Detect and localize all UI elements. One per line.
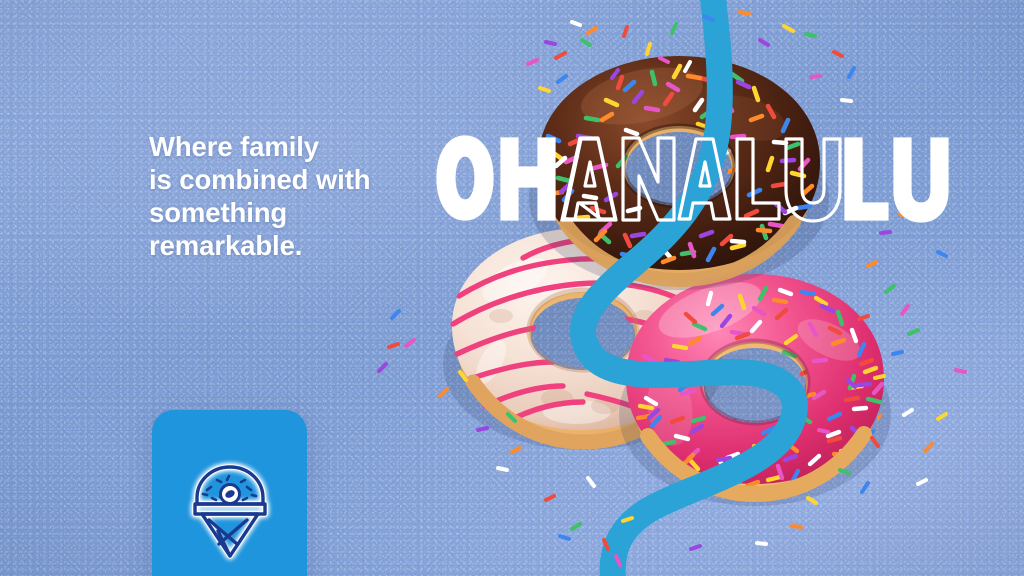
poster-canvas: .tsolid { fill:#ffffff; stroke:#ffffff; …	[0, 0, 1024, 576]
donut-pink	[614, 268, 896, 516]
headline-line-1: Where family	[149, 131, 439, 164]
brand-letter-A	[562, 138, 616, 220]
brand-title: .tsolid { fill:#ffffff; stroke:#ffffff; …	[436, 118, 916, 258]
brand-letter-U	[786, 139, 840, 221]
brand-letter-N	[623, 138, 674, 220]
headline-line-3: something	[149, 197, 439, 230]
logo-badge[interactable]	[152, 410, 307, 576]
brand-letter-L-2	[845, 138, 888, 220]
brand-letter-A-2	[679, 139, 730, 219]
ice-cream-cone-icon	[187, 458, 273, 562]
headline-tagline: Where family is combined with something …	[149, 131, 439, 262]
brand-letter-L	[737, 139, 779, 219]
brand-letter-H	[501, 138, 555, 220]
headline-line-2: is combined with	[149, 164, 439, 197]
headline-line-4: remarkable.	[149, 230, 439, 263]
brand-letter-O-1	[437, 136, 493, 220]
